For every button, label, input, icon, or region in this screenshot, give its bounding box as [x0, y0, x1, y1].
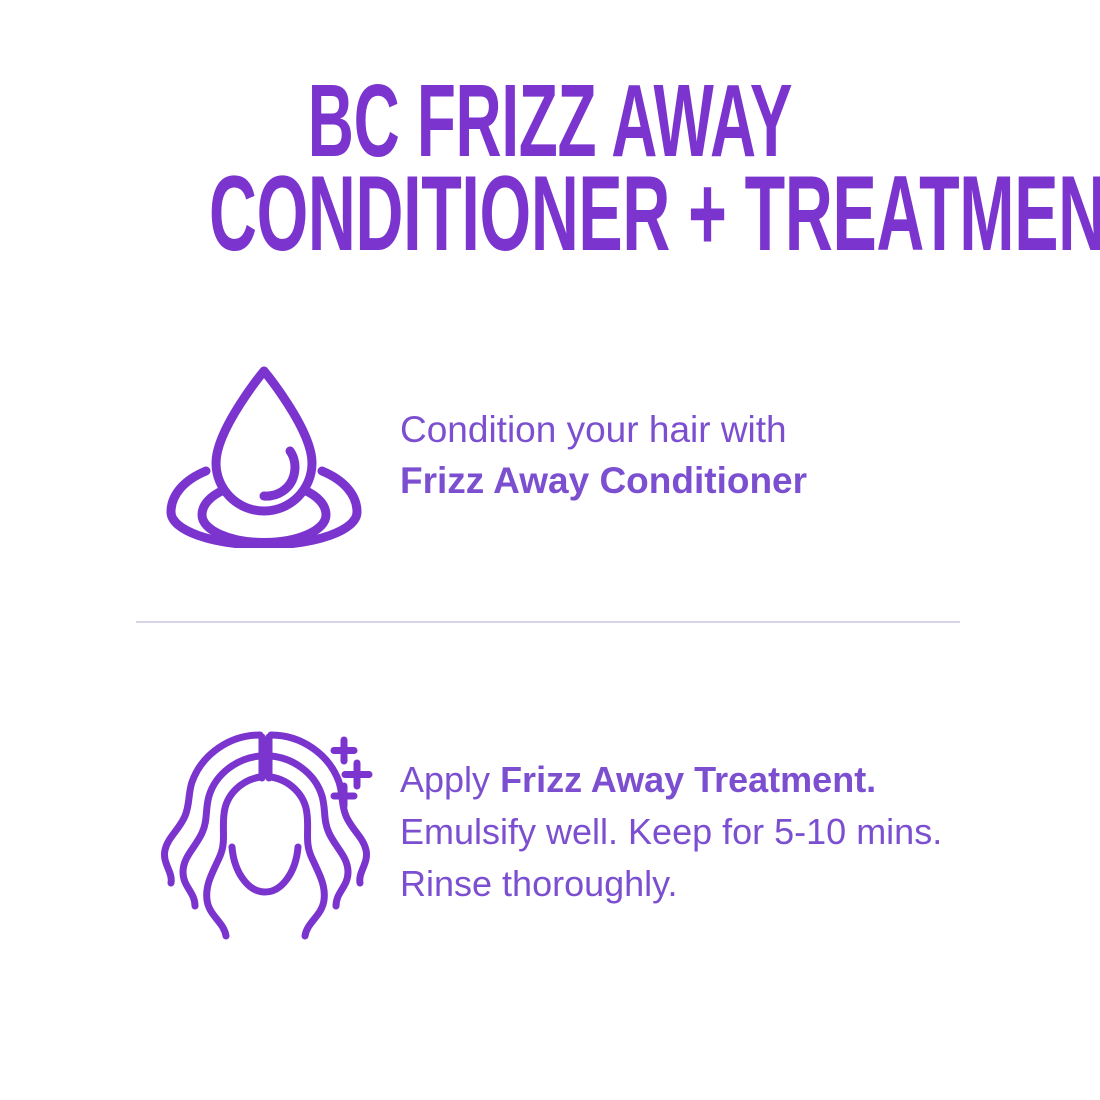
step-2-part-3: Emulsify well. Keep for 5-10 mins. Rinse… — [400, 811, 942, 904]
step-2-part-1: Apply — [400, 759, 500, 800]
instruction-step-2-text: Apply Frizz Away Treatment. Emulsify wel… — [392, 754, 960, 911]
page-title: BC FRIZZ AWAY CONDITIONER + TREATMENT — [0, 72, 1100, 265]
step-2-part-2: Frizz Away Treatment. — [500, 759, 876, 800]
step-1-line-2: Frizz Away Conditioner — [400, 455, 960, 506]
title-line-2: CONDITIONER + TREATMENT — [209, 162, 891, 265]
water-droplet-ripple-icon — [136, 360, 392, 550]
instruction-step-1: Condition your hair with Frizz Away Cond… — [136, 360, 960, 550]
section-divider — [136, 621, 960, 623]
wavy-hair-woman-icon — [136, 712, 392, 952]
product-instructions-card: BC FRIZZ AWAY CONDITIONER + TREATMENT Co… — [0, 0, 1100, 1100]
instruction-step-2: Apply Frizz Away Treatment. Emulsify wel… — [136, 712, 960, 952]
instruction-step-1-text: Condition your hair with Frizz Away Cond… — [392, 404, 960, 506]
step-1-line-1: Condition your hair with — [400, 404, 960, 455]
